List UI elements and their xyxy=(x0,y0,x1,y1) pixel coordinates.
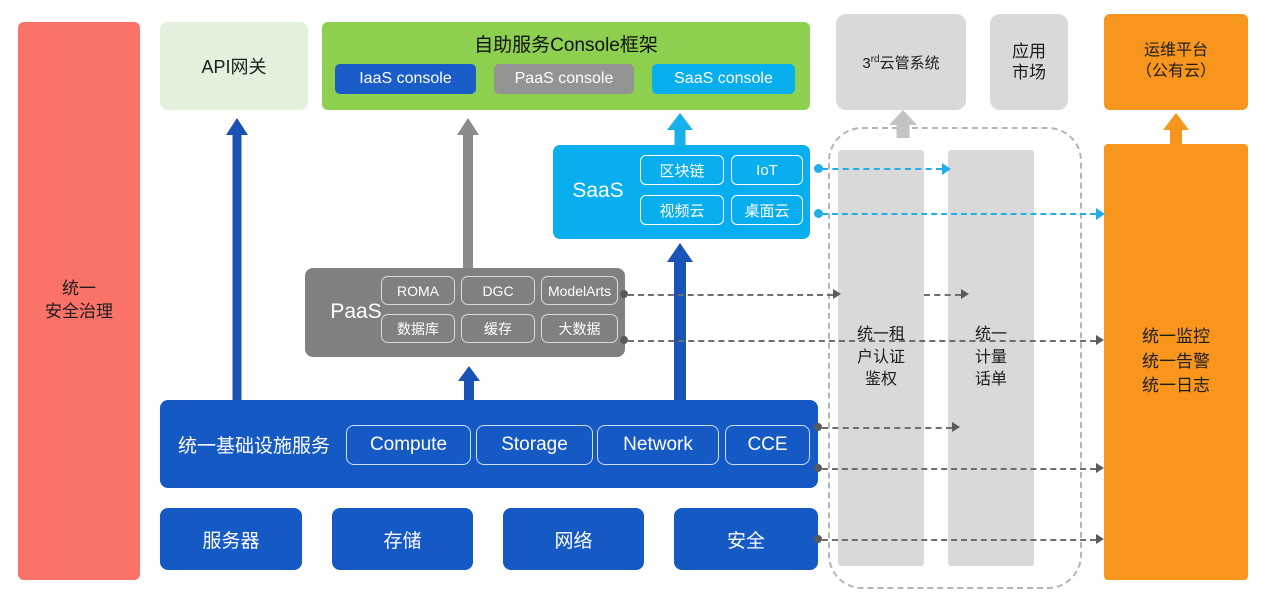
arrow-infra-to-api-gateway xyxy=(226,118,248,400)
ops-platform-line-1: 运维平台 xyxy=(1136,41,1216,62)
auth-line-2: 户认证 xyxy=(857,347,905,369)
billing-line-2: 计量 xyxy=(975,347,1007,369)
paas-chip-bigdata-label: 大数据 xyxy=(559,319,601,339)
saas-chip-video-cloud[interactable]: 视频云 xyxy=(640,195,724,225)
connector-dot-paas-row2 xyxy=(620,336,628,344)
connector-line-infra-row2 xyxy=(822,468,1096,470)
third-party-cloud-management-system-box: 3rd云管系统 xyxy=(836,14,966,110)
blue-connector-arrow-saas-row2 xyxy=(1096,208,1105,220)
api-gateway-label: API网关 xyxy=(201,53,266,79)
hardware-box-server[interactable]: 服务器 xyxy=(160,508,302,570)
infra-chip-storage-label: Storage xyxy=(501,434,568,456)
security-line-2: 安全治理 xyxy=(45,301,113,324)
connector-line-infra-row1 xyxy=(822,427,952,429)
hardware-box-security[interactable]: 安全 xyxy=(674,508,818,570)
third-cloud-prefix: 3 xyxy=(862,55,870,72)
paas-chip-cache[interactable]: 缓存 xyxy=(461,314,535,343)
hardware-box-storage[interactable]: 存储 xyxy=(332,508,473,570)
api-gateway-box: API网关 xyxy=(160,22,308,110)
arrow-saas-to-saas-console xyxy=(668,113,692,147)
paas-chip-database-label: 数据库 xyxy=(397,319,439,339)
connector-line-auth-to-billing xyxy=(924,294,961,296)
blue-connector-arrow-saas-row1 xyxy=(942,163,951,175)
console-chip-paas-label: PaaS console xyxy=(515,70,614,88)
unified-security-governance-panel: 统一 安全治理 xyxy=(18,22,140,580)
paas-chip-modelarts[interactable]: ModelArts xyxy=(541,276,618,305)
saas-chip-video-cloud-label: 视频云 xyxy=(659,200,704,221)
connector-dot-infra-row1 xyxy=(814,423,822,431)
app-market-line-2: 市场 xyxy=(1012,62,1046,83)
paas-block: PaaS ROMA DGC ModelArts 数据库 缓存 大数据 xyxy=(305,268,625,357)
connector-arrow-paas-row1 xyxy=(833,289,841,299)
saas-chip-iot-label: IoT xyxy=(756,162,778,179)
ops-platform-line-2: （公有云） xyxy=(1136,62,1216,83)
infra-chip-network-label: Network xyxy=(623,434,693,456)
infra-chip-network[interactable]: Network xyxy=(597,425,719,465)
console-chip-iaas[interactable]: IaaS console xyxy=(335,64,476,94)
infra-band-label: 统一基础设施服务 xyxy=(178,427,354,461)
connector-line-paas-row2 xyxy=(628,340,1096,342)
infra-chip-storage[interactable]: Storage xyxy=(476,425,593,465)
hardware-box-storage-label: 存储 xyxy=(383,526,421,553)
security-line-1: 统一 xyxy=(45,278,113,301)
auth-line-3: 鉴权 xyxy=(857,369,905,391)
app-market-box: 应用 市场 xyxy=(990,14,1068,110)
self-service-console-framework: 自助服务Console框架 IaaS console PaaS console … xyxy=(322,22,810,110)
billing-line-1: 统一 xyxy=(975,324,1007,346)
ops-body-line-3: 统一日志 xyxy=(1142,374,1210,399)
paas-chip-cache-label: 缓存 xyxy=(484,319,512,339)
connector-arrow-paas-row2 xyxy=(1096,335,1104,345)
connector-arrow-infra-row1 xyxy=(952,422,960,432)
saas-block-label: SaaS xyxy=(563,177,633,205)
infra-chip-compute-label: Compute xyxy=(370,434,447,456)
arrow-paas-to-console xyxy=(457,118,479,268)
ops-monitoring-panel: 统一监控 统一告警 统一日志 xyxy=(1104,144,1248,580)
infra-chip-cce[interactable]: CCE xyxy=(725,425,810,465)
connector-arrow-hardware xyxy=(1096,534,1104,544)
connector-line-hardware xyxy=(822,539,1096,541)
blue-connector-line-saas-row1 xyxy=(822,168,942,170)
connector-dot-hardware xyxy=(814,535,822,543)
saas-chip-blockchain-label: 区块链 xyxy=(659,160,704,181)
hardware-box-network[interactable]: 网络 xyxy=(503,508,644,570)
arrow-shared-to-third-cloud xyxy=(890,110,916,138)
unified-infrastructure-service-band: 统一基础设施服务 Compute Storage Network CCE xyxy=(160,400,818,488)
saas-chip-desktop-cloud-label: 桌面云 xyxy=(744,200,789,221)
third-cloud-suffix: 云管系统 xyxy=(880,55,940,72)
console-chip-saas-label: SaaS console xyxy=(674,70,773,88)
console-chip-saas[interactable]: SaaS console xyxy=(652,64,795,94)
blue-connector-line-saas-row2 xyxy=(822,213,1096,215)
console-chip-paas[interactable]: PaaS console xyxy=(494,64,634,94)
paas-chip-roma[interactable]: ROMA xyxy=(381,276,455,305)
paas-chip-dgc-label: DGC xyxy=(482,283,513,299)
connector-dot-infra-row2 xyxy=(814,464,822,472)
paas-chip-dgc[interactable]: DGC xyxy=(461,276,535,305)
infra-chip-compute[interactable]: Compute xyxy=(346,425,471,465)
auth-line-1: 统一租 xyxy=(857,324,905,346)
app-market-line-1: 应用 xyxy=(1012,41,1046,62)
saas-chip-iot[interactable]: IoT xyxy=(731,155,803,185)
arrow-ops-body-to-ops-platform xyxy=(1163,113,1189,145)
ops-platform-box: 运维平台 （公有云） xyxy=(1104,14,1248,110)
saas-chip-blockchain[interactable]: 区块链 xyxy=(640,155,724,185)
ops-body-line-2: 统一告警 xyxy=(1142,350,1210,375)
third-cloud-superscript: rd xyxy=(871,54,880,65)
connector-arrow-infra-row2 xyxy=(1096,463,1104,473)
ops-body-line-1: 统一监控 xyxy=(1142,325,1210,350)
hardware-box-security-label: 安全 xyxy=(727,526,765,553)
connector-arrow-auth-to-billing xyxy=(961,289,969,299)
arrow-infra-to-paas xyxy=(458,366,480,400)
console-framework-title: 自助服务Console框架 xyxy=(322,28,810,58)
hardware-box-server-label: 服务器 xyxy=(202,526,259,553)
paas-chip-bigdata[interactable]: 大数据 xyxy=(541,314,618,343)
paas-chip-roma-label: ROMA xyxy=(397,283,439,299)
paas-chip-database[interactable]: 数据库 xyxy=(381,314,455,343)
connector-line-paas-row1 xyxy=(628,294,833,296)
console-chip-iaas-label: IaaS console xyxy=(359,70,452,88)
third-cloud-text: 3rd云管系统 xyxy=(862,52,939,73)
infra-chip-cce-label: CCE xyxy=(747,434,787,456)
billing-line-3: 话单 xyxy=(975,369,1007,391)
paas-chip-modelarts-label: ModelArts xyxy=(548,283,611,299)
connector-dot-paas-row1 xyxy=(620,290,628,298)
saas-chip-desktop-cloud[interactable]: 桌面云 xyxy=(731,195,803,225)
hardware-box-network-label: 网络 xyxy=(554,526,592,553)
saas-block: SaaS 区块链 IoT 视频云 桌面云 xyxy=(553,145,810,239)
arrow-infra-to-saas xyxy=(668,243,692,400)
